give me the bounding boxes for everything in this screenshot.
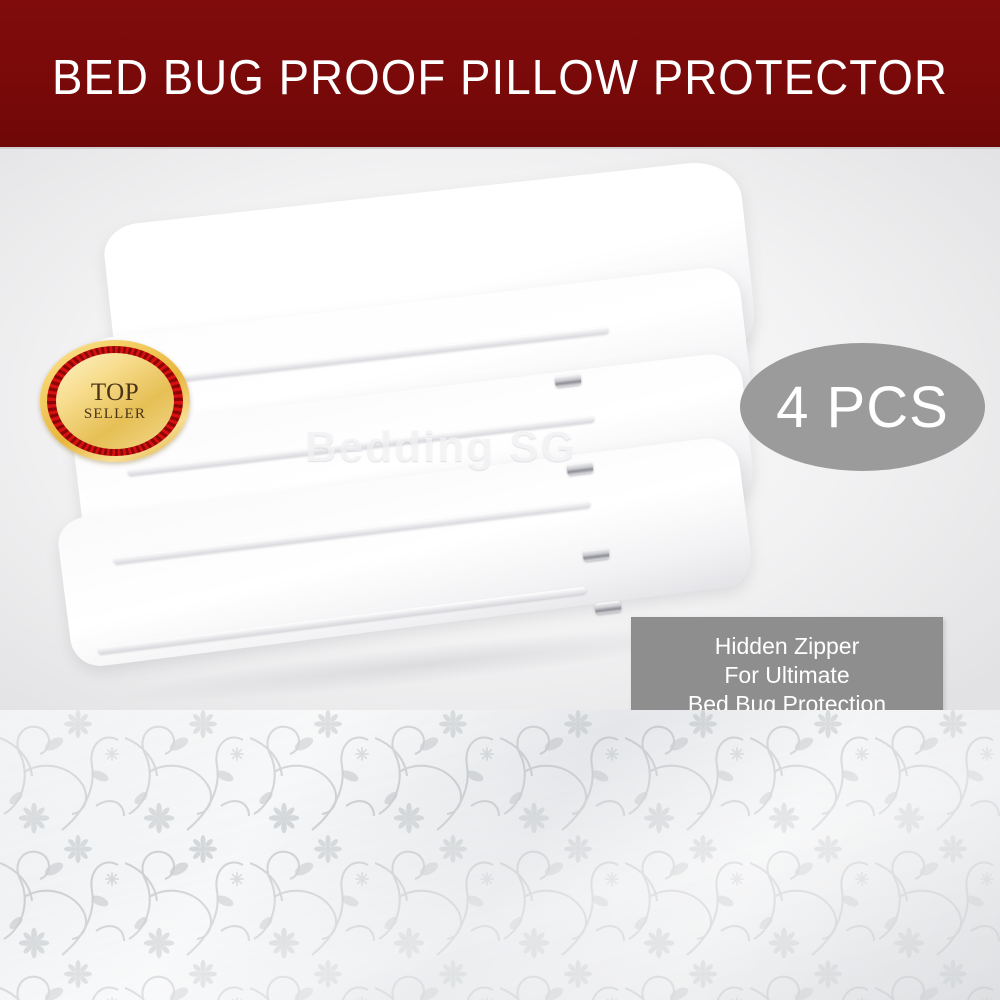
header-banner: BED BUG PROOF PILLOW PROTECTOR [0, 0, 1000, 147]
quantity-badge: 4 PCS [740, 343, 985, 471]
hidden-zipper-line-2: For Ultimate [724, 661, 849, 690]
top-seller-badge: TOP SELLER [40, 340, 190, 462]
badge-face: TOP SELLER [56, 353, 174, 449]
quantity-badge-label: 4 PCS [776, 374, 949, 441]
zipper-slider-4 [594, 600, 621, 614]
product-listing-poster: BED BUG PROOF PILLOW PROTECTOR Bedding S… [0, 0, 1000, 1000]
hidden-zipper-line-3: Bed Bug Protection [688, 690, 886, 711]
hidden-zipper-caption: Hidden Zipper For Ultimate Bed Bug Prote… [632, 618, 942, 710]
product-image-area: Bedding SG TOP SELLER 4 PCS Size: 48 X 7… [0, 147, 1000, 710]
damask-pattern-background [0, 710, 1000, 1000]
badge-top-label: TOP [91, 380, 139, 405]
protection-section: Protection Against Fluids • Dust Mites •… [0, 710, 1000, 1000]
hidden-zipper-line-1: Hidden Zipper [715, 632, 859, 661]
badge-seller-label: SELLER [84, 407, 146, 422]
hidden-zipper-panel: Hidden Zipper For Ultimate Bed Bug Prote… [631, 617, 943, 710]
page-title: BED BUG PROOF PILLOW PROTECTOR [35, 0, 965, 147]
